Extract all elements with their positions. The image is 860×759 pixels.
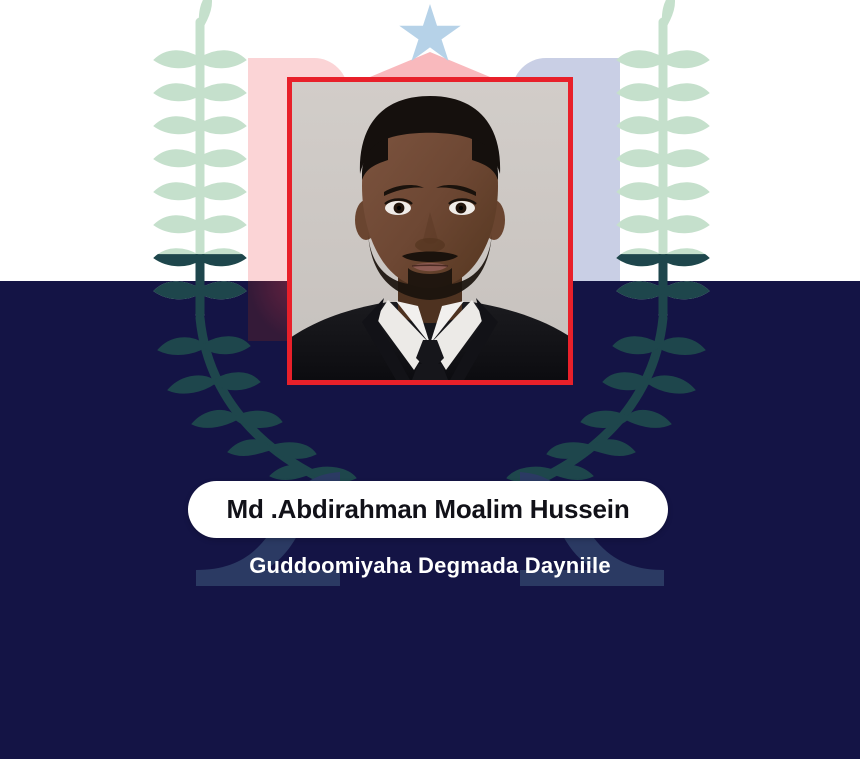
- portrait-illustration: [292, 82, 568, 380]
- portrait-photo: [287, 77, 573, 385]
- name-label: Md .Abdirahman Moalim Hussein: [226, 494, 629, 525]
- name-badge: Md .Abdirahman Moalim Hussein: [188, 481, 668, 538]
- profile-card: Md .Abdirahman Moalim Hussein Guddoomiya…: [0, 0, 860, 759]
- title-label: Guddoomiyaha Degmada Dayniile: [0, 553, 860, 579]
